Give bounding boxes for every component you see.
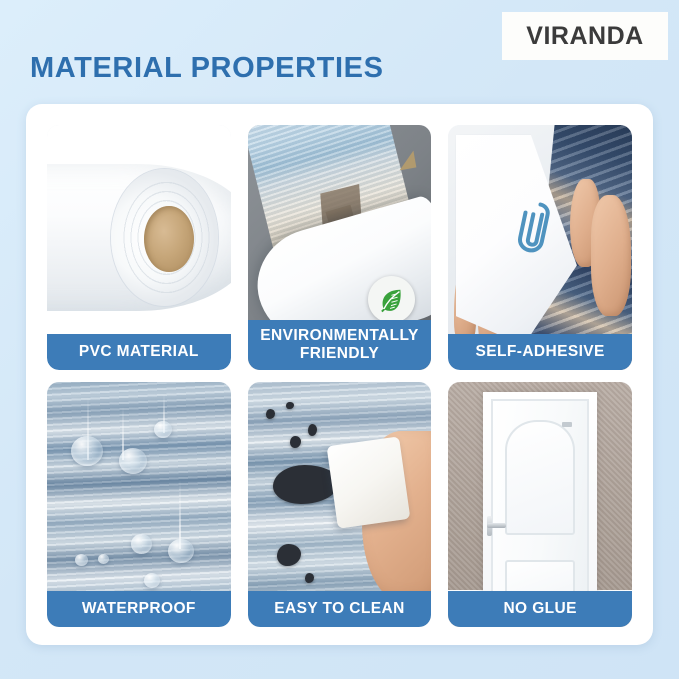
page-title: MATERIAL PROPERTIES [30, 52, 384, 85]
card-label-easy-to-clean: EASY TO CLEAN [248, 591, 432, 627]
cards-grid: PVC MATERIAL [47, 125, 632, 627]
card-label-no-glue: NO GLUE [448, 591, 632, 627]
roll-core-shape [144, 206, 194, 272]
door-handle [487, 516, 506, 536]
water-droplet [144, 573, 160, 588]
water-droplet [71, 436, 103, 466]
water-droplet [98, 554, 109, 564]
right-hand [566, 179, 632, 316]
handle-bar [487, 523, 506, 527]
feature-card-waterproof[interactable]: WATERPROOF [47, 382, 231, 627]
cleaning-cloth [327, 436, 411, 529]
door-frame [483, 392, 597, 617]
feature-card-no-glue[interactable]: NO GLUE [448, 382, 632, 627]
door-leaf [491, 399, 589, 618]
stain-mark [286, 402, 293, 409]
brand-logo: VIRANDA [502, 12, 668, 60]
water-droplet [75, 554, 88, 566]
stain-mark [290, 436, 301, 448]
green-leaf-eco-badge [368, 276, 415, 323]
feature-card-easy-to-clean[interactable]: EASY TO CLEAN [248, 382, 432, 627]
peeled-corner-tip [396, 151, 416, 171]
water-droplet [119, 448, 147, 474]
water-droplet [154, 421, 172, 438]
brand-name: VIRANDA [526, 22, 643, 51]
feature-card-environmentally-friendly[interactable]: ENVIRONMENTALLY FRIENDLY [248, 125, 432, 370]
door-panel-top [505, 420, 575, 536]
card-label-environmentally-friendly: ENVIRONMENTALLY FRIENDLY [248, 320, 432, 370]
water-droplet [168, 539, 194, 563]
card-label-pvc-material: PVC MATERIAL [47, 334, 231, 370]
stain-mark [305, 573, 314, 583]
feature-card-pvc-material[interactable]: PVC MATERIAL [47, 125, 231, 370]
cards-panel: PVC MATERIAL [26, 104, 653, 645]
stain-mark [277, 544, 301, 566]
stain-mark [266, 409, 275, 419]
card-label-self-adhesive: SELF-ADHESIVE [448, 334, 632, 370]
water-droplet [131, 534, 152, 554]
door-top-marking [562, 422, 572, 427]
card-label-waterproof: WATERPROOF [47, 591, 231, 627]
material-properties-infographic: VIRANDA MATERIAL PROPERTIES PVC MATERIAL [0, 0, 679, 679]
feature-card-self-adhesive[interactable]: SELF-ADHESIVE [448, 125, 632, 370]
stain-mark [308, 424, 317, 436]
